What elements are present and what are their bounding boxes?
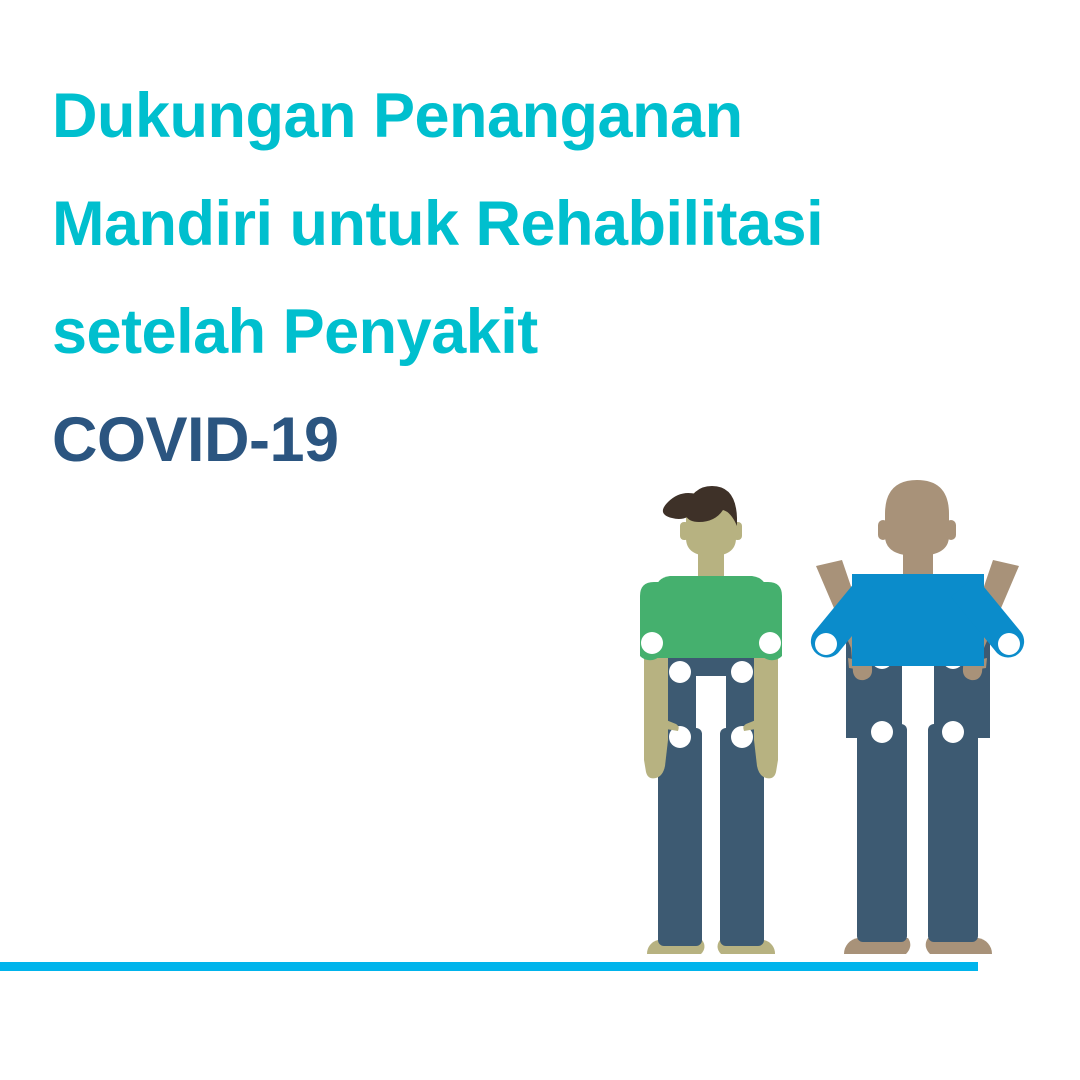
male-figure [800,470,1035,982]
female-left-hip-joint [669,661,691,683]
male-left-lower-leg [857,724,907,942]
male-left-knee-joint [871,721,893,743]
female-left-elbow-joint [641,632,663,654]
male-left-elbow-joint [815,633,837,655]
female-shirt-hem [656,630,766,656]
male-right-elbow-joint [998,633,1020,655]
male-right-ear [946,520,956,540]
ground-line [0,962,978,971]
male-right-knee-joint [942,721,964,743]
female-right-hip-joint [731,661,753,683]
male-left-ear [878,520,888,540]
female-left-ear [680,522,689,540]
female-right-ear [733,522,742,540]
male-right-lower-leg [928,724,978,942]
cover-page: Dukungan Penanganan Mandiri untuk Rehabi… [0,0,1080,1080]
female-figure [620,470,820,980]
male-head [885,480,949,556]
female-right-elbow-joint [759,632,781,654]
female-shirt [640,576,782,660]
two-standing-people-illustration [0,0,1080,1080]
